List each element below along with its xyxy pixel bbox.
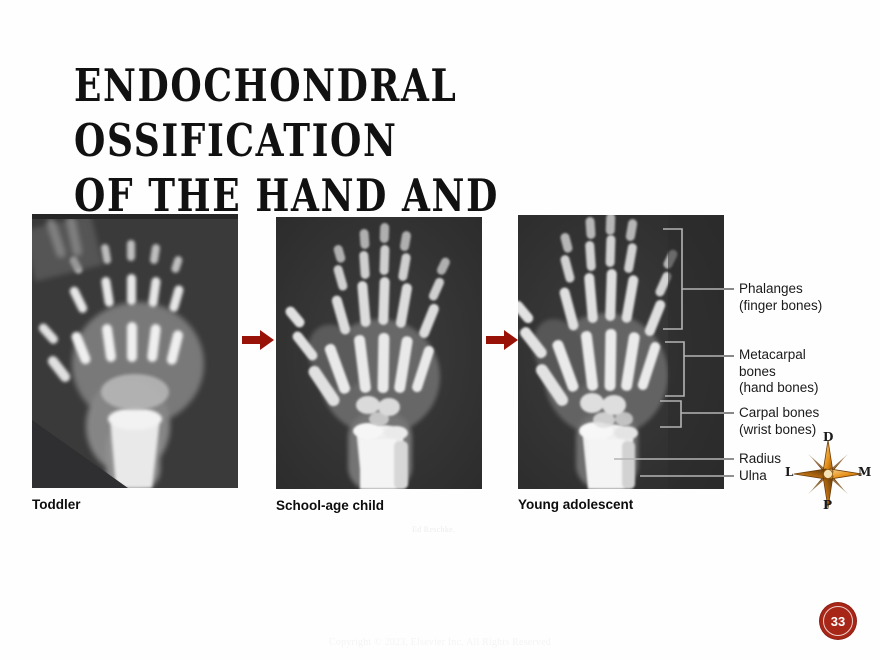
- callout-label-phalanges: Phalanges (finger bones): [739, 281, 822, 314]
- page-number-badge: 33: [820, 603, 856, 639]
- compass-label-p: P: [823, 498, 832, 512]
- callout-label-radius: Radius: [739, 451, 781, 468]
- caption-school-age-child: School-age child: [276, 498, 384, 513]
- caption-toddler: Toddler: [32, 497, 81, 512]
- xray-image-toddler: [32, 214, 238, 488]
- slide-canvas: Endochondral Ossification of the Hand an…: [0, 0, 880, 660]
- compass-label-l: L: [785, 465, 793, 479]
- compass-label-d: D: [823, 430, 833, 444]
- callout-label-ulna: Ulna: [739, 468, 767, 485]
- page-number: 33: [820, 603, 856, 639]
- photo-credit: Ed Reschke.: [412, 525, 455, 534]
- xray-image-young-adolescent: [518, 215, 724, 489]
- caption-young-adolescent: Young adolescent: [518, 497, 633, 512]
- orientation-compass: D L M P: [786, 432, 870, 516]
- copyright-notice: Copyright © 2023, Elsevier Inc. All Righ…: [0, 637, 880, 648]
- compass-label-m: M: [858, 465, 871, 479]
- progression-arrow-1: [242, 329, 274, 351]
- progression-arrow-2: [486, 329, 518, 351]
- callout-label-metacarpal: Metacarpal bones (hand bones): [739, 347, 819, 397]
- xray-image-school-age: [276, 217, 482, 489]
